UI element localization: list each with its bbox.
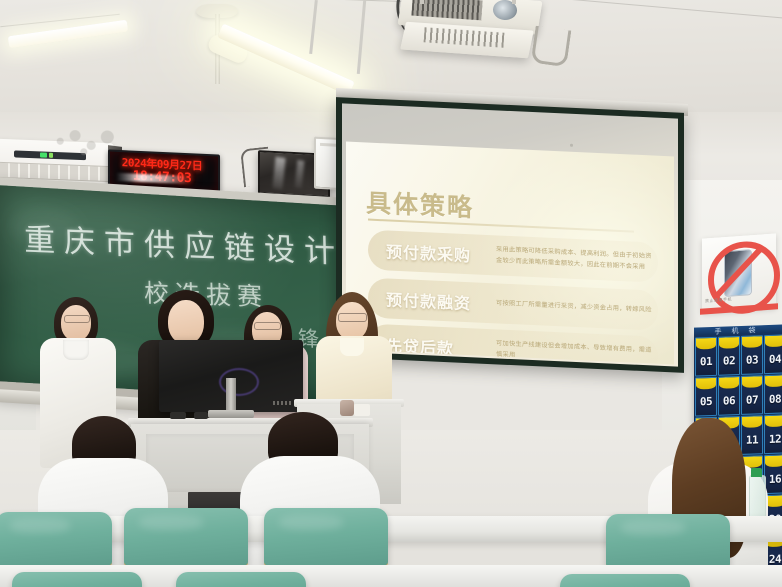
slide-row-1-label: 预付款采购 [386, 238, 471, 266]
classroom-chair[interactable] [264, 508, 388, 569]
bottle-cap [751, 468, 762, 477]
ac-power-led-icon [40, 152, 47, 157]
phone-pocket[interactable]: 03 [741, 335, 763, 375]
slide-row-1-body: 采用此策略可降低采购成本、提高利润。但由于初始资金较少而此策略所需金额较大，因此… [496, 244, 652, 274]
phone-pocket[interactable]: 07 [741, 375, 763, 415]
projection-screen-frame: 具体策略 预付款采购 采用此策略可降低采购成本、提高利润。但由于初始资金较少而此… [336, 97, 684, 373]
phone-pocket-number: 01 [696, 355, 716, 369]
blackboard-title: 重庆市供应链设计 [24, 214, 345, 271]
phone-pocket-number: 16 [765, 472, 782, 486]
ceiling-seam [560, 0, 782, 19]
phone-pocket[interactable]: 11 [741, 415, 763, 455]
collar [340, 338, 364, 356]
eyeglasses-icon [254, 322, 281, 330]
phone-pocket[interactable]: 08 [764, 374, 782, 414]
wall-vent-holes [54, 130, 116, 158]
collar [63, 340, 89, 360]
classroom-chair[interactable] [176, 572, 306, 587]
face [168, 300, 204, 344]
phone-pocket-number: 05 [696, 395, 716, 409]
slide-row-2-label: 预付款融资 [386, 286, 471, 314]
desk-device[interactable] [170, 412, 186, 419]
slide-row-2-body: 可按照工厂所需量进行采货，减少资金占用，转嫁风险 [496, 298, 652, 317]
slide-row-3-body: 可加快生产线建设但会增加成本、导致增有费用，需道慎采用 [496, 338, 652, 365]
phone-pocket[interactable]: 05 [695, 377, 717, 417]
screen-glare [272, 157, 285, 190]
classroom-chair[interactable] [560, 574, 690, 587]
projector-mount-arm [420, 0, 424, 4]
phone-pocket-number: 02 [719, 354, 739, 368]
microphone[interactable] [340, 400, 354, 416]
eyeglasses-icon [338, 313, 367, 322]
screen-glare [295, 160, 305, 189]
phone-pocket-number: 07 [742, 393, 762, 407]
phone-pocket-number: 03 [742, 353, 762, 367]
phone-pocket-number: 11 [742, 433, 762, 447]
slide-row-3-label: 先贷后款 [386, 332, 454, 359]
projector-mount-bracket [531, 26, 572, 68]
phone-pocket[interactable]: 04 [764, 334, 782, 374]
phone-pocket-number: 06 [719, 394, 739, 408]
phone-pocket[interactable]: 16 [764, 454, 782, 494]
monitor-brand-logo [273, 401, 293, 405]
screen-dust-speck [570, 144, 573, 147]
classroom-chair[interactable] [12, 572, 142, 587]
no-phone-sign: 禁止使用手机 [702, 233, 776, 312]
phone-pocket-number: 04 [765, 352, 782, 366]
presentation-slide: 具体策略 预付款采购 采用此策略可降低采购成本、提高利润。但由于初始资金较少而此… [346, 142, 674, 365]
phone-pocket[interactable]: 12 [764, 414, 782, 454]
monitor-stand-base [208, 410, 254, 418]
monitor-screen-glow [219, 368, 259, 396]
phone-pocket[interactable]: 01 [695, 337, 717, 377]
slide-row-1: 预付款采购 采用此策略可降低采购成本、提高利润。但由于初始资金较少而此策略所需金… [368, 230, 658, 283]
classroom-chair[interactable] [606, 514, 730, 571]
ac-status-led-icon [49, 153, 53, 158]
monitor-stand-neck [226, 378, 236, 414]
eyeglasses-icon [64, 315, 90, 323]
projector-mount-arm [512, 0, 516, 4]
phone-pocket[interactable]: 06 [718, 376, 740, 416]
phone-pocket[interactable]: 02 [718, 336, 740, 376]
face [61, 305, 91, 341]
phone-pocket-number: 12 [765, 432, 782, 446]
slide-row-2: 预付款融资 可按照工厂所需量进行采货，减少资金占用，转嫁风险 [368, 278, 658, 331]
classroom-scene: 2024年09月27日 18:47:03 重庆市供应链设计 校选拔赛 迁先锋 具… [0, 0, 782, 587]
slide-row-3: 先贷后款 可加快生产线建设但会增加成本、导致增有费用，需道慎采用 [368, 324, 658, 365]
phone-pocket-number: 08 [765, 392, 782, 406]
desk-paper [354, 404, 370, 416]
classroom-chair[interactable] [0, 512, 112, 569]
projection-screen: 具体策略 预付款采购 采用此策略可降低采购成本、提高利润。但由于初始资金较少而此… [342, 103, 678, 366]
desk-device[interactable] [194, 412, 208, 419]
classroom-chair[interactable] [124, 508, 248, 569]
